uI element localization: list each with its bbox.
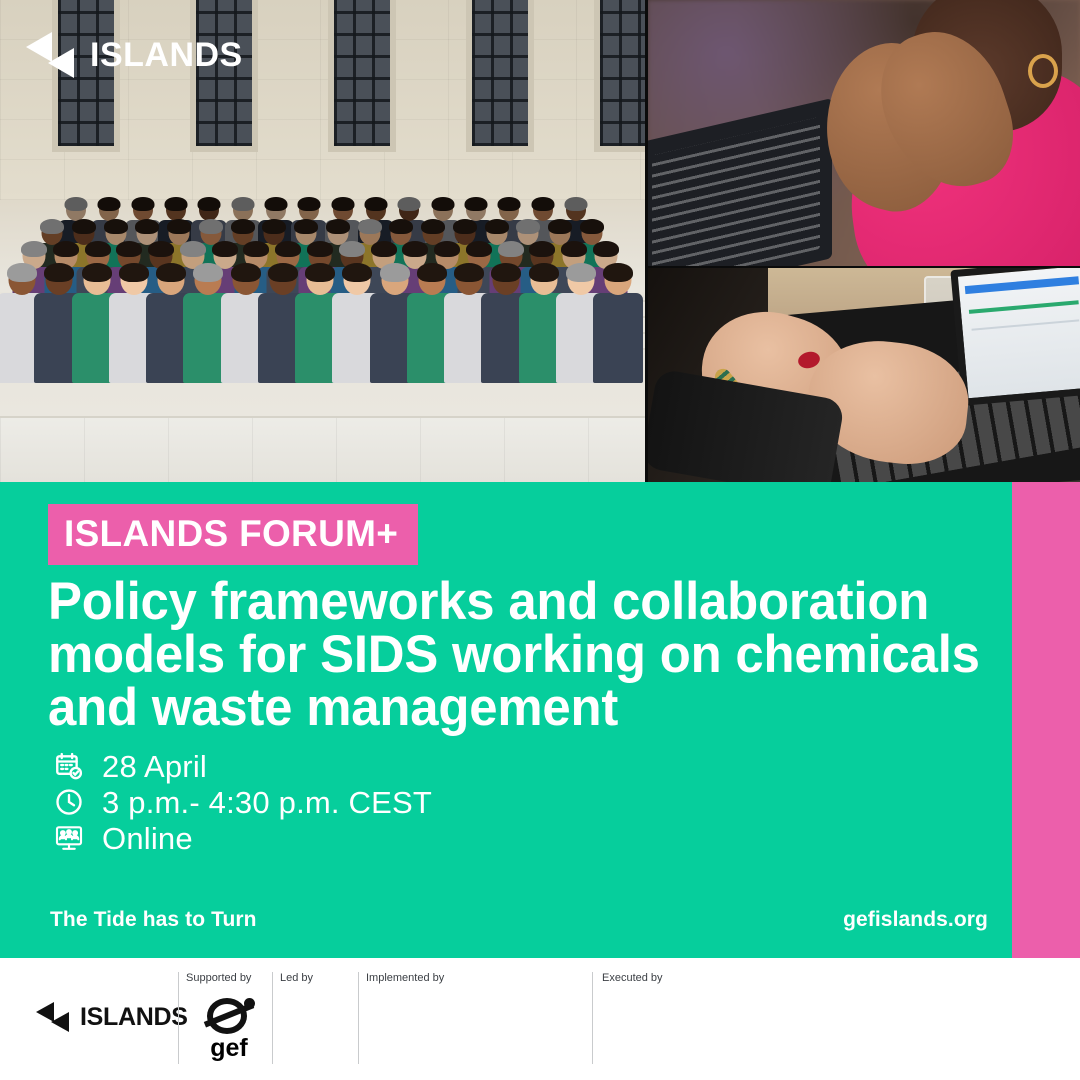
tagline: The Tide has to Turn <box>50 908 257 932</box>
delegate-hair <box>21 241 47 257</box>
islands-triangles-icon <box>26 32 80 78</box>
delegate-body <box>593 293 643 383</box>
delegate-hair <box>342 263 372 282</box>
delegate-hair <box>232 197 255 211</box>
online-meeting-icon <box>52 821 86 855</box>
delegate-hair <box>116 241 142 257</box>
laptop-lid <box>950 268 1080 406</box>
delegate-hair <box>148 241 174 257</box>
delegate-hair <box>398 197 421 211</box>
delegate-hair <box>307 241 333 257</box>
forum-badge: ISLANDS FORUM+ <box>48 504 418 565</box>
typing-photo <box>648 268 1080 482</box>
event-title: Policy frameworks and collaboration mode… <box>48 575 941 734</box>
clock-icon <box>52 785 86 819</box>
footer-divider <box>272 972 273 1064</box>
footer-divider <box>178 972 179 1064</box>
partner-logo-footer: ISLANDS Supported by Led by Implemented … <box>0 958 1080 1080</box>
delegate-hair <box>498 197 521 211</box>
laptop-screen <box>652 117 820 266</box>
delegate-hair <box>380 263 410 282</box>
delegate-hair <box>358 219 382 234</box>
event-location-row: Online <box>52 820 432 856</box>
delegate-hair <box>72 219 96 234</box>
delegate-hair <box>529 241 555 257</box>
delegate-hair <box>593 241 619 257</box>
title-line-2: models for SIDS working on chemicals <box>48 628 941 681</box>
calendar-check-icon <box>52 749 86 783</box>
footer-label-supported-by: Supported by <box>186 972 251 984</box>
delegate-hair <box>53 241 79 257</box>
delegate-hair <box>7 263 37 282</box>
delegate-hair <box>104 219 128 234</box>
forum-badge-label: ISLANDS FORUM+ <box>64 513 398 554</box>
delegate-hair <box>339 241 365 257</box>
website-url[interactable]: gefislands.org <box>843 908 988 932</box>
delegate-hair <box>294 219 318 234</box>
delegate-hair <box>193 263 223 282</box>
footer-label-implemented-by: Implemented by <box>366 972 444 984</box>
delegate-hair <box>432 197 455 211</box>
event-time-row: 3 p.m.- 4:30 p.m. CEST <box>52 784 432 820</box>
delegate-hair <box>198 197 221 211</box>
islands-footer-logo-text: ISLANDS <box>80 1003 188 1032</box>
hands-photo <box>648 0 1080 266</box>
delegate-hair <box>243 241 269 257</box>
delegate-hair <box>434 241 460 257</box>
footer-label-executed-by: Executed by <box>602 972 663 984</box>
pink-accent-strip <box>1012 482 1080 958</box>
islands-logo: ISLANDS <box>26 32 243 78</box>
building-facade <box>0 0 645 200</box>
gef-mark-icon <box>203 996 255 1036</box>
delegate-hair <box>389 219 413 234</box>
plaza-ground <box>0 416 645 482</box>
delegate-hair <box>231 219 255 234</box>
delegate-hair <box>454 263 484 282</box>
delegate-hair <box>561 241 587 257</box>
gef-logo-text: gef <box>194 1037 264 1060</box>
event-poster: ISLANDS ISLANDS FORUM+ Policy frameworks… <box>0 0 1080 1080</box>
hoop-earring <box>1028 54 1058 88</box>
delegate-hair <box>548 219 572 234</box>
delegate-hair <box>465 197 488 211</box>
delegate-hair <box>580 219 604 234</box>
event-time: 3 p.m.- 4:30 p.m. CEST <box>102 787 432 818</box>
delegate-hair <box>298 197 321 211</box>
delegate-hair <box>65 197 88 211</box>
event-date: 28 April <box>102 751 207 782</box>
delegate-hair <box>165 197 188 211</box>
delegate-hair <box>305 263 335 282</box>
delegate-hair <box>40 219 64 234</box>
delegate-hair <box>565 197 588 211</box>
delegate-hair <box>417 263 447 282</box>
delegate-hair <box>119 263 149 282</box>
delegate-hair <box>265 197 288 211</box>
event-details: 28 April 3 p.m.- 4:30 p.m. CEST <box>52 748 432 856</box>
delegate-hair <box>135 219 159 234</box>
delegate-hair <box>529 263 559 282</box>
islands-logo-text: ISLANDS <box>90 36 243 75</box>
delegate-hair <box>402 241 428 257</box>
delegate-hair <box>516 219 540 234</box>
delegate <box>593 265 643 383</box>
gef-logo: gef <box>194 996 264 1060</box>
islands-triangles-icon <box>36 1002 76 1032</box>
delegate-hair <box>453 219 477 234</box>
delegate-hair <box>167 219 191 234</box>
delegates-crowd <box>0 185 645 425</box>
delegate-hair <box>326 219 350 234</box>
event-date-row: 28 April <box>52 748 432 784</box>
delegate-hair <box>365 197 388 211</box>
title-line-1: Policy frameworks and collaboration <box>48 575 941 628</box>
delegate-hair <box>82 263 112 282</box>
delegate-hair <box>332 197 355 211</box>
footer-divider <box>592 972 593 1064</box>
delegate-hair <box>98 197 121 211</box>
delegate-hair <box>275 241 301 257</box>
delegate-hair <box>199 219 223 234</box>
delegate-hair <box>421 219 445 234</box>
delegate-hair <box>156 263 186 282</box>
delegate-hair <box>532 197 555 211</box>
delegate-hair <box>231 263 261 282</box>
delegate-hair <box>262 219 286 234</box>
delegate-hair <box>132 197 155 211</box>
delegate-hair <box>180 241 206 257</box>
delegate-hair <box>485 219 509 234</box>
footer-divider <box>358 972 359 1064</box>
delegate-hair <box>566 263 596 282</box>
islands-footer-logo: ISLANDS <box>36 1002 188 1032</box>
hero-image-collage: ISLANDS <box>0 0 1080 482</box>
delegate-hair <box>466 241 492 257</box>
delegate-hair <box>44 263 74 282</box>
footer-label-led-by: Led by <box>280 972 313 984</box>
delegate-hair <box>491 263 521 282</box>
title-line-3: and waste management <box>48 681 941 734</box>
delegate-hair <box>603 263 633 282</box>
event-location: Online <box>102 823 193 854</box>
delegate-hair <box>268 263 298 282</box>
